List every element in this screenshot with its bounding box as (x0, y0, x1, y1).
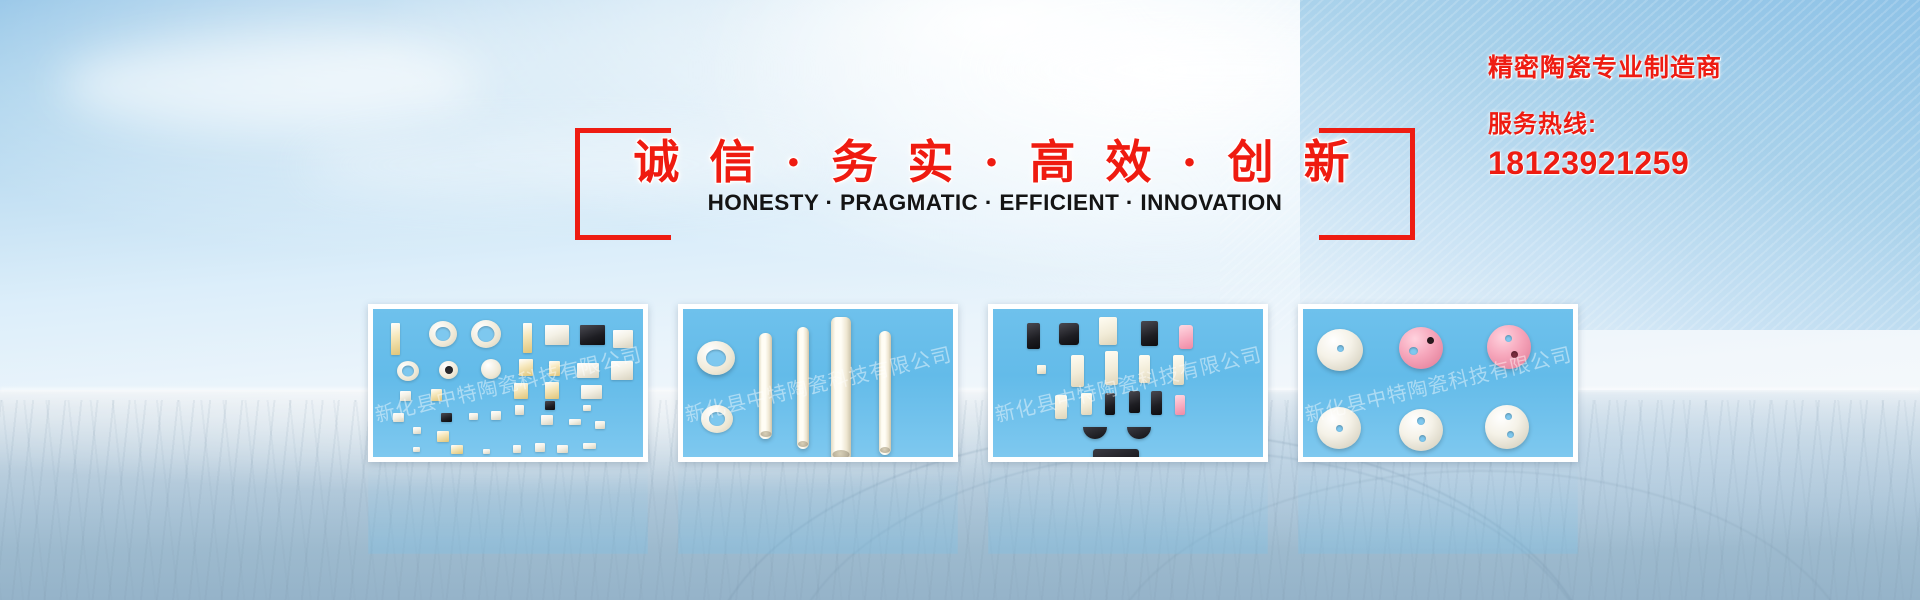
product-gallery: 新化县中特陶瓷科技有限公司 新化县中特陶瓷科技有限公司 (368, 304, 1588, 462)
slogan-chinese: 诚 信 · 务 实 · 高 效 · 创 新 (575, 126, 1415, 192)
watermark: 新化县中特陶瓷科技有限公司 (993, 338, 1263, 428)
panel-reflection (368, 462, 648, 554)
product-photo-3: 新化县中特陶瓷科技有限公司 (993, 309, 1263, 457)
slogan-block: 诚 信 · 务 实 · 高 效 · 创 新 HONESTY · PRAGMATI… (575, 108, 1415, 248)
product-photo-1: 新化县中特陶瓷科技有限公司 (373, 309, 643, 457)
product-panel-1[interactable]: 新化县中特陶瓷科技有限公司 (368, 304, 648, 462)
promo-banner: 诚 信 · 务 实 · 高 效 · 创 新 HONESTY · PRAGMATI… (0, 0, 1920, 600)
company-tagline: 精密陶瓷专业制造商 (1488, 48, 1888, 84)
panel-reflection (988, 462, 1268, 554)
cloud (60, 40, 480, 130)
product-photo-4: 新化县中特陶瓷科技有限公司 (1303, 309, 1573, 457)
watermark: 新化县中特陶瓷科技有限公司 (373, 338, 643, 428)
contact-info: 精密陶瓷专业制造商 服务热线: 18123921259 (1488, 48, 1888, 182)
slogan-english: HONESTY · PRAGMATIC · EFFICIENT · INNOVA… (575, 190, 1415, 216)
product-photo-2: 新化县中特陶瓷科技有限公司 (683, 309, 953, 457)
hotline-number[interactable]: 18123921259 (1488, 145, 1888, 182)
product-panel-3[interactable]: 新化县中特陶瓷科技有限公司 (988, 304, 1268, 462)
panel-reflection (1298, 462, 1578, 554)
hotline-label: 服务热线: (1488, 104, 1888, 139)
product-panel-4[interactable]: 新化县中特陶瓷科技有限公司 (1298, 304, 1578, 462)
panel-reflection (678, 462, 958, 554)
product-panel-2[interactable]: 新化县中特陶瓷科技有限公司 (678, 304, 958, 462)
